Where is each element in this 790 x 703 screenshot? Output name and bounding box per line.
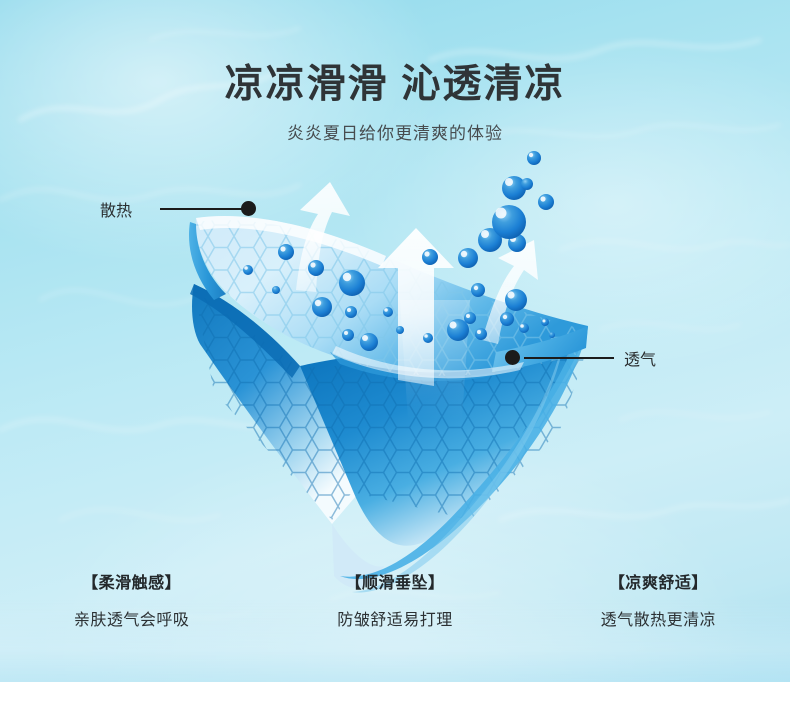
feature-item-1: 【柔滑触感】 亲肤透气会呼吸 xyxy=(0,569,263,630)
leader-dot-breathable xyxy=(505,350,520,365)
leader-line-breathable xyxy=(524,357,614,359)
feature-title: 【顺滑垂坠】 xyxy=(263,569,526,593)
product-feature-banner: 散热 透气 凉凉滑滑 沁透清凉 炎炎夏日给你更清爽的体验 【柔滑触感】 亲肤透气… xyxy=(0,0,790,703)
bottom-white-strip xyxy=(0,682,790,703)
annotation-heat-dissipation: 散热 xyxy=(100,197,132,221)
feature-desc: 防皱舒适易打理 xyxy=(263,606,526,630)
feature-desc: 亲肤透气会呼吸 xyxy=(0,606,263,630)
feature-title: 【凉爽舒适】 xyxy=(527,569,790,593)
page-title: 凉凉滑滑 沁透清凉 xyxy=(0,64,790,107)
feature-title: 【柔滑触感】 xyxy=(0,569,263,593)
feature-item-2: 【顺滑垂坠】 防皱舒适易打理 xyxy=(263,569,526,630)
leader-line-heat xyxy=(160,208,244,210)
leader-dot-heat xyxy=(241,201,256,216)
feature-desc: 透气散热更清凉 xyxy=(527,606,790,630)
feature-item-3: 【凉爽舒适】 透气散热更清凉 xyxy=(527,569,790,630)
page-subtitle: 炎炎夏日给你更清爽的体验 xyxy=(0,119,790,144)
feature-list: 【柔滑触感】 亲肤透气会呼吸 【顺滑垂坠】 防皱舒适易打理 【凉爽舒适】 透气散… xyxy=(0,569,790,630)
annotation-breathable: 透气 xyxy=(624,346,656,370)
